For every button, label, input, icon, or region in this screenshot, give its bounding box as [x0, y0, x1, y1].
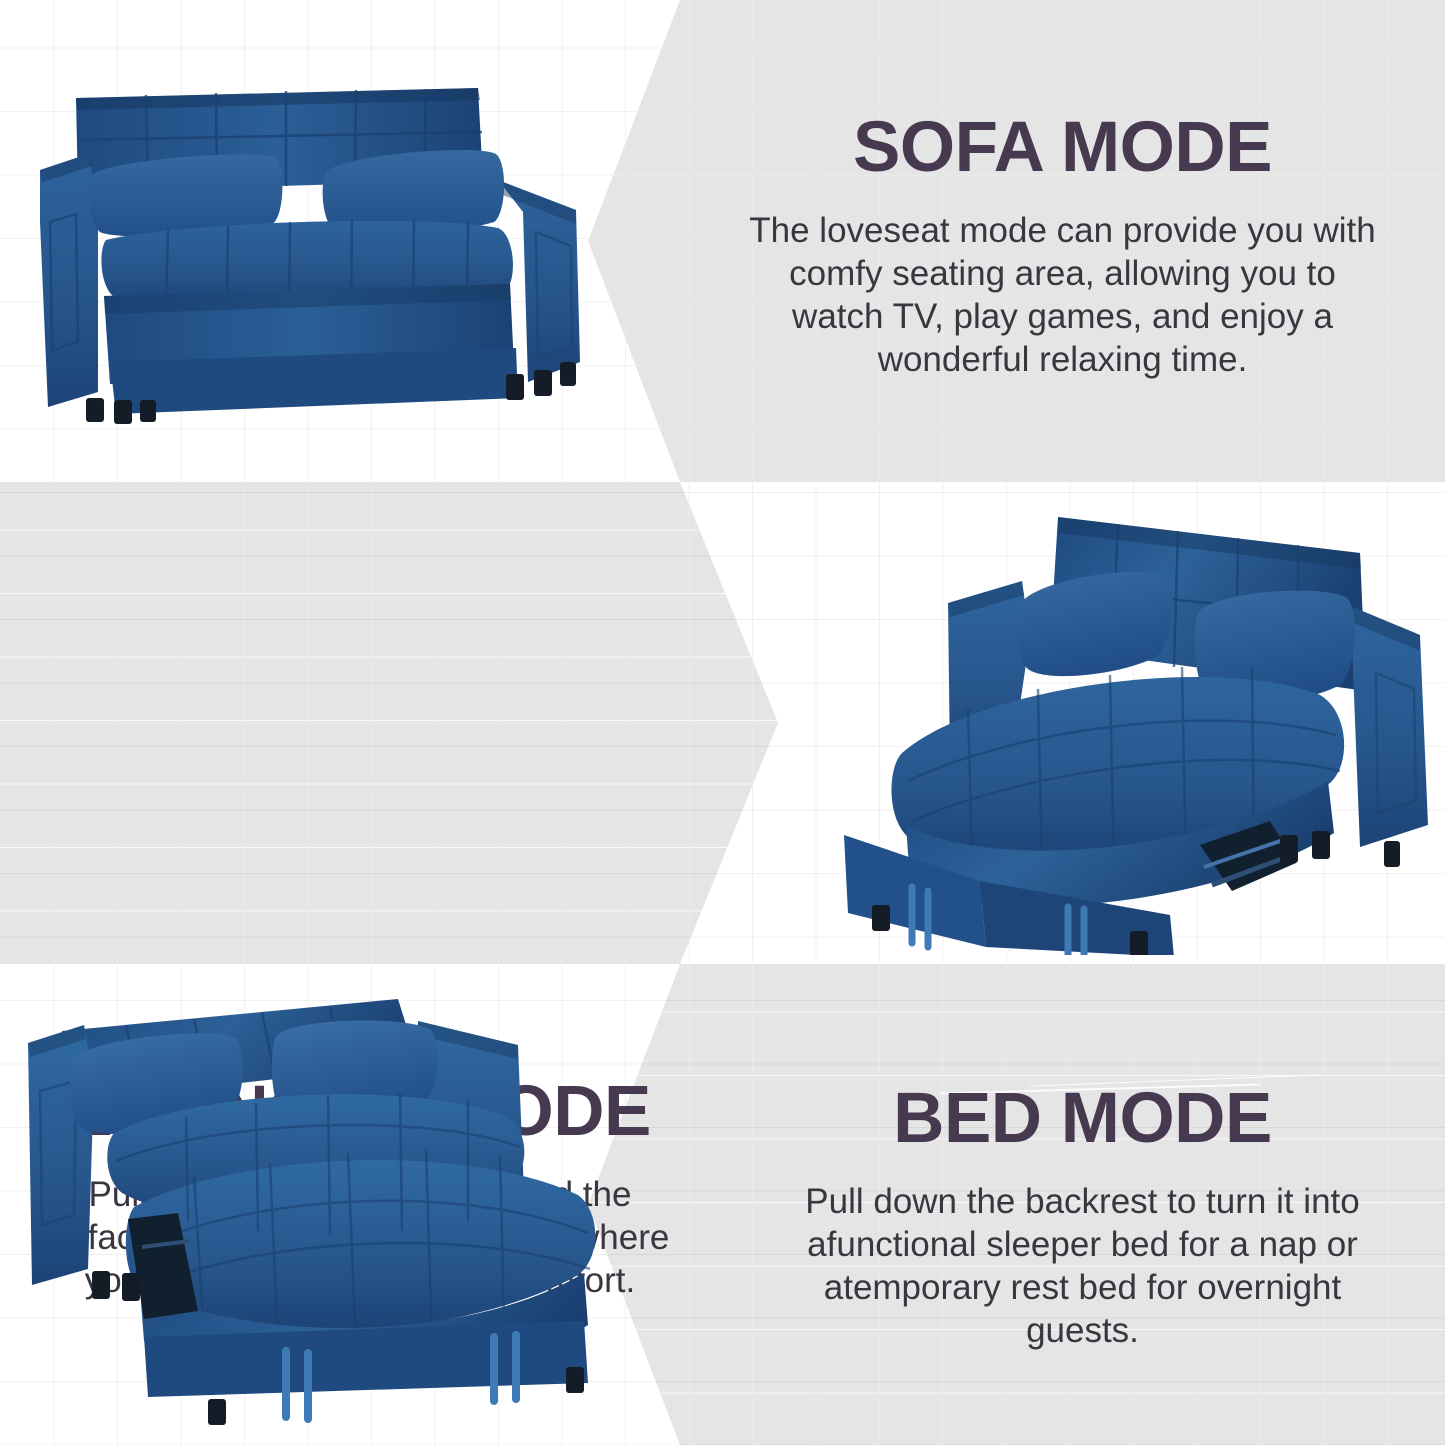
product-image-sofa-mode [28, 62, 598, 432]
text-block-sofa-mode: SOFA MODE The loveseat mode can provide … [680, 112, 1445, 381]
section-description-bed-mode: Pull down the backrest to turn it into a… [768, 1180, 1398, 1352]
infographic-page: SOFA MODE The loveseat mode can provide … [0, 0, 1445, 1445]
product-image-lounger-mode [800, 495, 1440, 955]
section-bed-mode: BED MODE Pull down the backrest to turn … [0, 964, 1445, 1445]
section-lounger-mode: LOUNGER MODE Pull out the end of the sof… [0, 482, 1445, 964]
text-block-bed-mode: BED MODE Pull down the backrest to turn … [720, 1083, 1445, 1352]
section-sofa-mode: SOFA MODE The loveseat mode can provide … [0, 0, 1445, 482]
section-title-bed-mode: BED MODE [720, 1083, 1445, 1154]
product-image-bed-mode [18, 985, 643, 1425]
section-title-sofa-mode: SOFA MODE [680, 112, 1445, 183]
section-description-sofa-mode: The loveseat mode can provide you with c… [743, 209, 1383, 381]
